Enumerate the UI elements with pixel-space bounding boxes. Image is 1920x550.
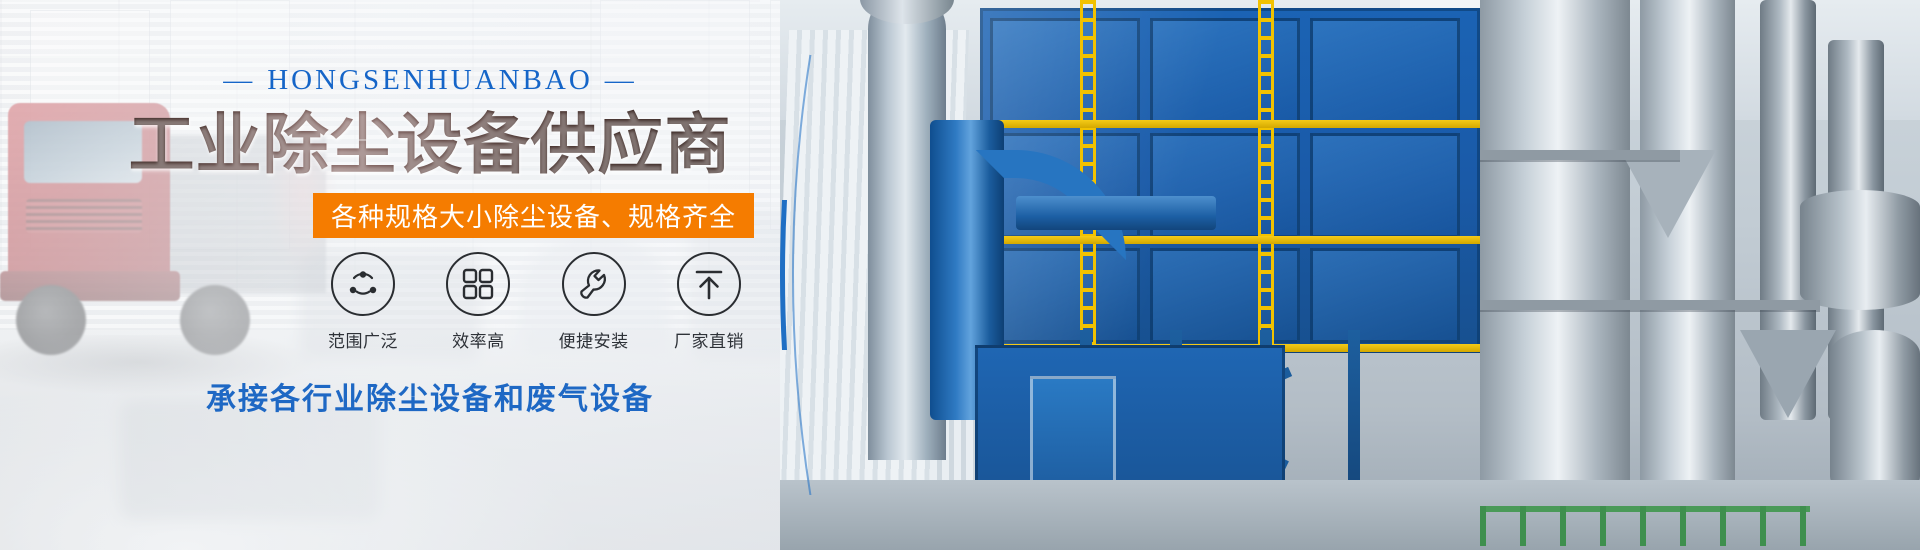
yellow-ladder	[1258, 0, 1274, 350]
brand-pinyin-eyebrow: —HONGSENHUANBAO—	[0, 64, 860, 97]
hopper-cone	[1620, 150, 1716, 238]
platform-deck	[1480, 150, 1680, 160]
feature-label: 便捷安装	[544, 327, 644, 352]
blue-horizontal-duct	[1016, 196, 1216, 230]
banner-content: —HONGSENHUANBAO— 工业除尘设备供应商 各种规格大小除尘设备、规格…	[0, 0, 860, 550]
feature-item-factory-direct[interactable]: 厂家直销	[659, 252, 759, 352]
arrow-up-bar-icon	[693, 267, 725, 301]
hopper-cone	[1740, 330, 1836, 418]
feature-label: 厂家直销	[659, 327, 759, 352]
grid-squares-icon	[461, 267, 495, 301]
share-nodes-icon	[345, 266, 381, 302]
subtitle-text: 各种规格大小除尘设备、规格齐全	[331, 197, 736, 234]
hero-banner: —HONGSENHUANBAO— 工业除尘设备供应商 各种规格大小除尘设备、规格…	[0, 0, 1920, 550]
grey-tower	[1640, 0, 1735, 550]
feature-icon-circle	[677, 252, 741, 316]
feature-item-efficiency[interactable]: 效率高	[428, 252, 528, 352]
feature-icon-circle	[446, 252, 510, 316]
feature-item-range[interactable]: 范围广泛	[313, 252, 413, 352]
banner-tagline: 承接各行业除尘设备和废气设备	[0, 374, 860, 418]
grey-tower	[1480, 0, 1630, 550]
green-fence	[1480, 506, 1810, 546]
horizontal-tank	[1830, 330, 1920, 500]
page-title: 工业除尘设备供应商	[0, 108, 860, 181]
right-plant-photo	[780, 0, 1920, 550]
feature-icon-circle	[562, 252, 626, 316]
feature-label: 效率高	[428, 327, 528, 352]
platform-deck	[1480, 300, 1820, 310]
horizontal-tank	[1800, 190, 1920, 310]
eyebrow-dash-left: —	[223, 64, 255, 97]
feature-label: 范围广泛	[313, 327, 413, 352]
eyebrow-dash-right: —	[605, 64, 637, 97]
subtitle-orange-bar: 各种规格大小除尘设备、规格齐全	[313, 193, 754, 238]
feature-item-installation[interactable]: 便捷安装	[544, 252, 644, 352]
eyebrow-text: HONGSENHUANBAO	[267, 64, 593, 96]
feature-icon-circle	[331, 252, 395, 316]
yellow-railing	[980, 120, 1480, 128]
wrench-icon	[575, 265, 613, 303]
feature-list: 范围广泛 效率高	[313, 252, 759, 352]
plant-photo-base	[780, 0, 1920, 550]
